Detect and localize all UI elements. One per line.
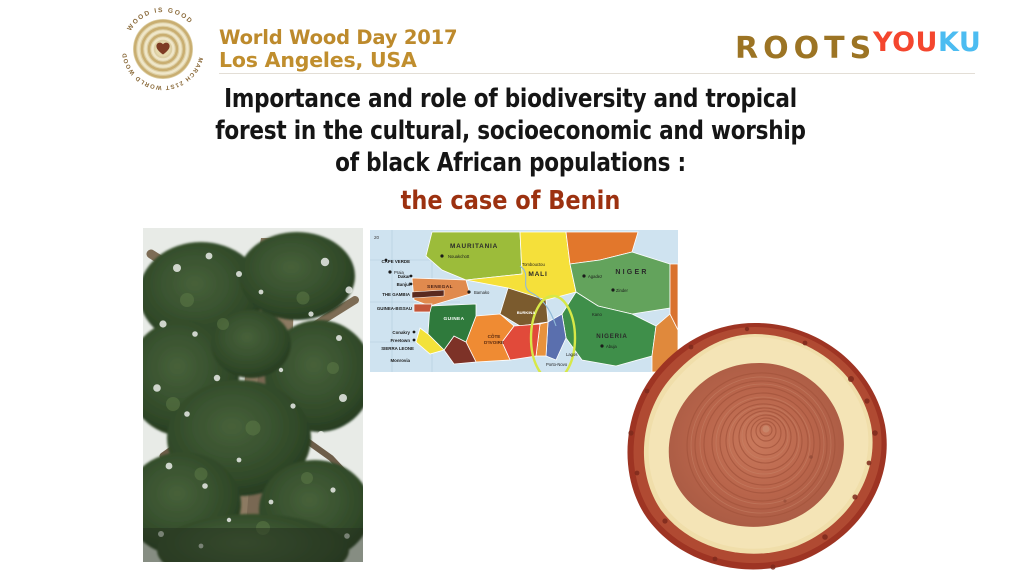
svg-text:Agadez: Agadez [588,274,602,279]
svg-text:D'IVOIRE: D'IVOIRE [484,340,504,345]
svg-text:THE GAMBIA: THE GAMBIA [382,292,411,297]
tree-photograph [143,228,363,562]
svg-text:MAURITANIA: MAURITANIA [450,243,498,250]
svg-text:Tombouctou: Tombouctou [522,262,545,267]
svg-text:SIERRA LEONE: SIERRA LEONE [381,346,414,351]
wood-cross-section [619,321,891,571]
subtitle: the case of Benin [20,185,1000,217]
svg-text:Conakry: Conakry [392,330,410,335]
svg-text:Kano: Kano [592,312,602,317]
svg-text:Porto-Novo: Porto-Novo [546,362,568,367]
slide-canvas: WOOD IS GOOD MARCH 21ST WORLD WOOD DAY W… [0,0,1021,574]
svg-text:Abuja: Abuja [606,344,617,349]
svg-text:Banjul: Banjul [397,282,410,287]
svg-text:SENEGAL: SENEGAL [427,284,453,290]
title-line-1: Importance and role of biodiversity and … [31,83,991,115]
youku-watermark: YOUKU [873,27,981,58]
header-divider [219,73,975,74]
svg-text:NIGER: NIGER [615,269,648,276]
svg-text:MALI: MALI [528,271,547,278]
svg-text:20: 20 [374,235,380,240]
svg-text:BURKINA: BURKINA [517,310,536,315]
event-info: World Wood Day 2017 Los Angeles, USA [219,27,457,72]
title-line-2: forest in the cultural, socioeconomic an… [31,115,991,147]
svg-text:Freetown: Freetown [390,338,410,343]
world-wood-day-logo-icon: WOOD IS GOOD MARCH 21ST WORLD WOOD DAY [117,3,209,95]
svg-text:Monrovia: Monrovia [390,358,410,363]
title-block: Importance and role of biodiversity and … [0,83,1021,217]
svg-text:Zinder: Zinder [616,288,628,293]
event-location: Los Angeles, USA [219,49,457,72]
svg-text:GUINEA: GUINEA [443,316,464,322]
svg-text:Nouakchott: Nouakchott [448,254,470,259]
svg-text:Praia: Praia [394,270,404,275]
title-line-3: of black African populations : [31,147,991,179]
roots-brand-label: ROOTS [735,31,876,66]
youku-watermark-ku: KU [938,27,981,58]
svg-text:Bamako: Bamako [474,290,490,295]
youku-watermark-you: YOU [873,27,938,58]
svg-text:GUINEA-BISSAU: GUINEA-BISSAU [377,306,412,311]
event-title: World Wood Day 2017 [219,27,457,49]
svg-text:CÔTE: CÔTE [488,332,501,339]
svg-text:Lagos: Lagos [566,352,577,357]
